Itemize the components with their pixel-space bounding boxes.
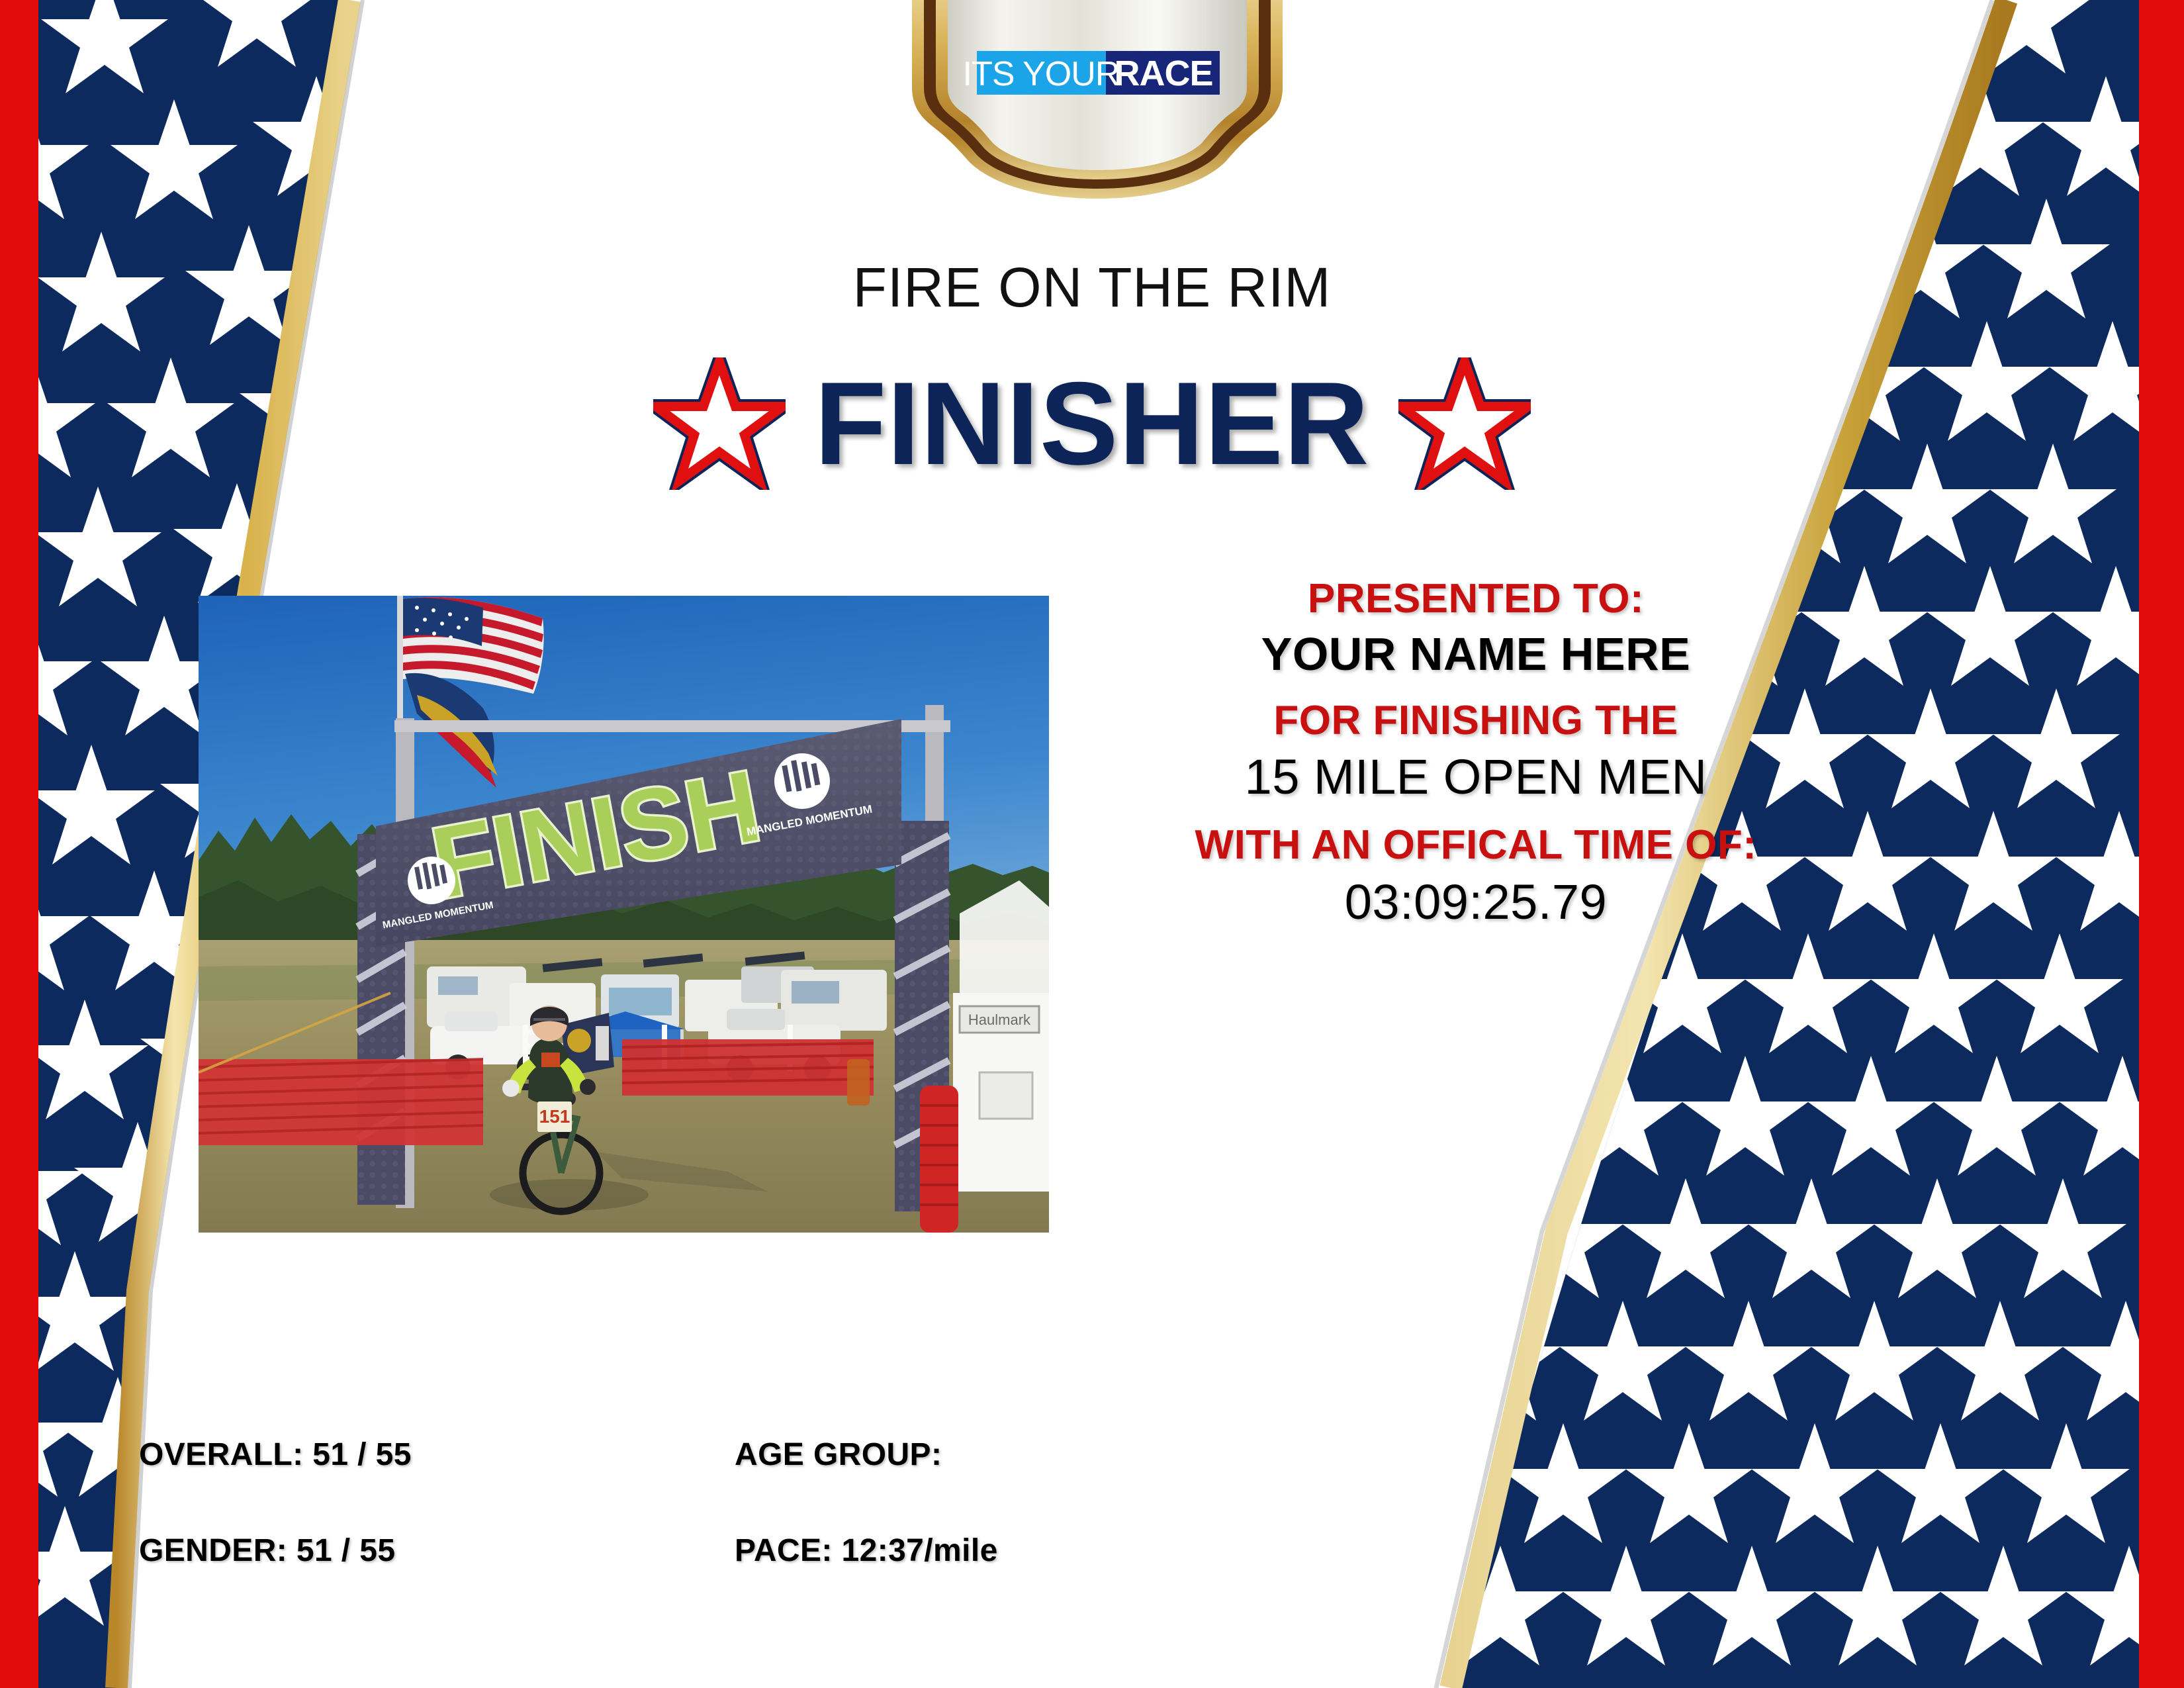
recipient-name: YOUR NAME HERE xyxy=(1085,628,1866,680)
trailer-label: Haulmark xyxy=(968,1011,1031,1028)
race-title: FIRE ON THE RIM xyxy=(0,259,2184,315)
its-your-race-logo: ITS YOUR RACE xyxy=(872,0,1322,207)
official-time-label: WITH AN OFFICAL TIME OF: xyxy=(1085,822,1866,868)
logo-race-text: RACE xyxy=(1114,54,1212,93)
red-fence-left xyxy=(199,1059,483,1145)
event-category: 15 MILE OPEN MEN xyxy=(1085,750,1866,805)
finisher-heading-row: FINISHER xyxy=(0,357,2184,490)
stat-age-group: AGE GROUP: xyxy=(735,1436,1330,1473)
stat-gender: GENDER: 51 / 55 xyxy=(139,1532,735,1569)
official-time-value: 03:09:25.79 xyxy=(1085,875,1866,930)
haulmark-trailer: Haulmark xyxy=(953,993,1049,1192)
finish-line-photo: FINISH MANGLED MOMENTUM xyxy=(199,596,1049,1233)
logo-its-your-text: ITS YOUR xyxy=(963,55,1120,93)
decorative-star-left-icon xyxy=(653,357,786,490)
for-finishing-label: FOR FINISHING THE xyxy=(1085,698,1866,743)
decorative-star-right-icon xyxy=(1398,357,1531,490)
shield-badge-svg: ITS YOUR RACE xyxy=(872,0,1322,207)
red-fence-right xyxy=(622,1039,874,1096)
finish-line-photo-svg: FINISH MANGLED MOMENTUM xyxy=(199,596,1049,1233)
presented-to-label: PRESENTED TO: xyxy=(1085,576,1866,622)
bib-number: 151 xyxy=(539,1106,570,1127)
result-stats: OVERALL: 51 / 55 AGE GROUP: GENDER: 51 /… xyxy=(139,1436,1330,1569)
finisher-word: FINISHER xyxy=(815,365,1370,483)
stat-pace: PACE: 12:37/mile xyxy=(735,1532,1330,1569)
red-barrier xyxy=(920,1086,958,1233)
stat-overall: OVERALL: 51 / 55 xyxy=(139,1436,735,1473)
certificate-page: ITS YOUR RACE FIRE ON THE RIM FINISHER xyxy=(0,0,2184,1688)
award-text-block: PRESENTED TO: YOUR NAME HERE FOR FINISHI… xyxy=(1085,576,1866,947)
right-red-stripe xyxy=(2139,0,2184,1688)
left-red-stripe xyxy=(0,0,38,1688)
